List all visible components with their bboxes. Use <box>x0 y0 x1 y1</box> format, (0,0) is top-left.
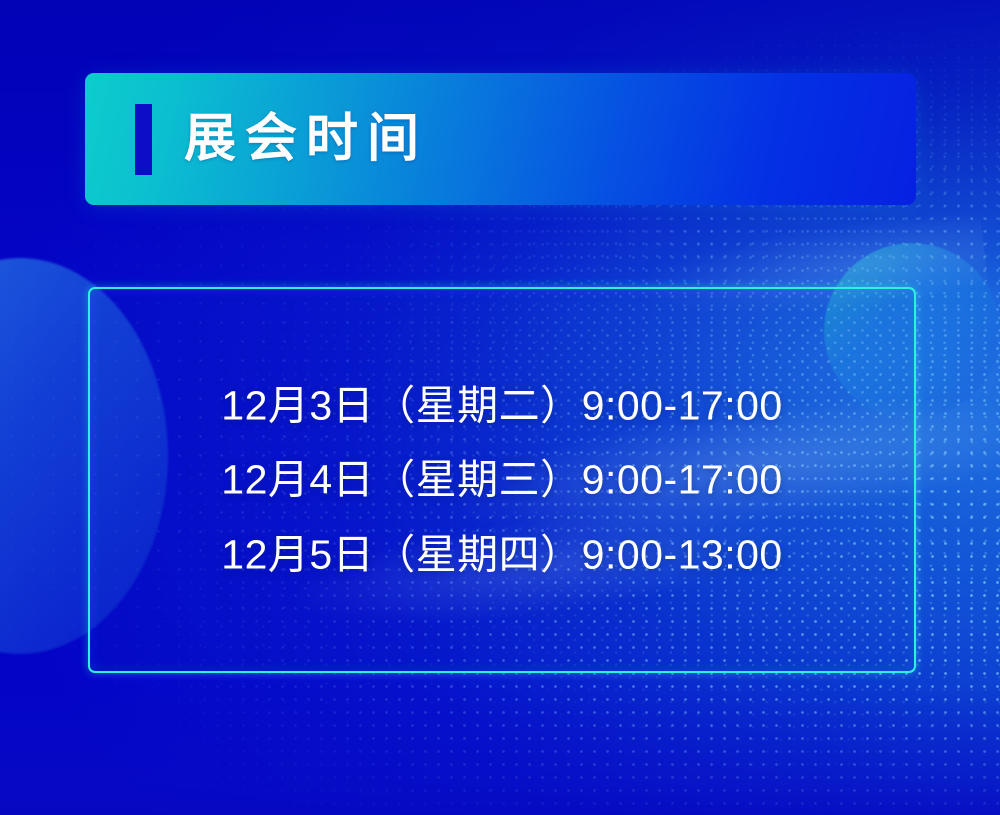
schedule-row: 12月5日（星期四）9:00-13:00 <box>221 530 782 578</box>
poster-canvas: 展会时间 12月3日（星期二）9:00-17:00 12月4日（星期三）9:00… <box>0 0 1000 815</box>
title-accent-bar-icon <box>135 104 152 175</box>
schedule-row: 12月3日（星期二）9:00-17:00 <box>221 381 782 429</box>
section-header-banner: 展会时间 <box>85 73 916 205</box>
schedule-list: 12月3日（星期二）9:00-17:00 12月4日（星期三）9:00-17:0… <box>90 381 914 578</box>
schedule-card: 12月3日（星期二）9:00-17:00 12月4日（星期三）9:00-17:0… <box>88 287 916 673</box>
page-title: 展会时间 <box>184 113 428 165</box>
section-header-inner: 展会时间 <box>85 73 916 205</box>
schedule-row: 12月4日（星期三）9:00-17:00 <box>221 456 782 504</box>
